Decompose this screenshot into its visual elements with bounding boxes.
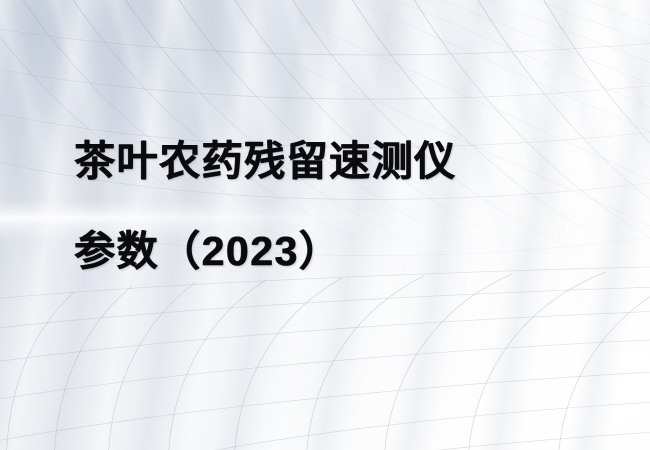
title-line-secondary: 参数（2023） bbox=[74, 224, 614, 278]
title-banner: 茶叶农药残留速测仪 参数（2023） bbox=[0, 0, 650, 450]
title-line-primary: 茶叶农药残留速测仪 bbox=[74, 134, 614, 188]
page-title: 茶叶农药残留速测仪 参数（2023） bbox=[74, 134, 614, 278]
